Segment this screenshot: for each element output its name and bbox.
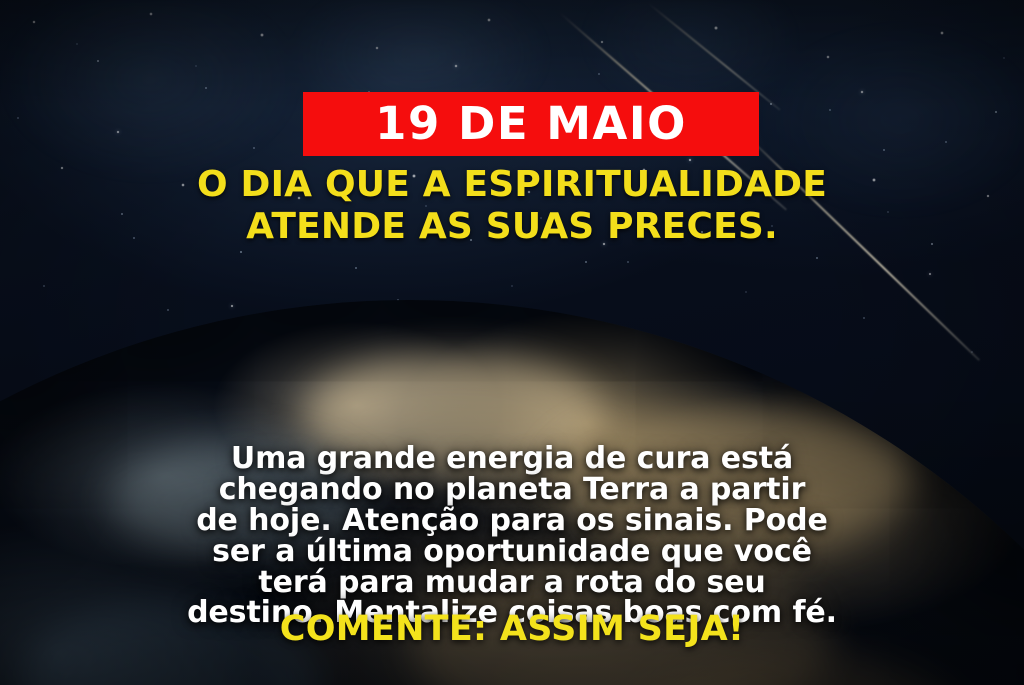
poster-content: 19 DE MAIO O DIA QUE A ESPIRITUALIDADE A… — [0, 0, 1024, 685]
headline-line-1: O DIA QUE A ESPIRITUALIDADE — [40, 164, 984, 206]
body-line-4: ser a última oportunidade que você — [34, 537, 990, 568]
body-line-1: Uma grande energia de cura está — [34, 444, 990, 475]
headline: O DIA QUE A ESPIRITUALIDADE ATENDE AS SU… — [0, 164, 1024, 248]
body-line-2: chegando no planeta Terra a partir — [34, 475, 990, 506]
poster-image: 19 DE MAIO O DIA QUE A ESPIRITUALIDADE A… — [0, 0, 1024, 685]
headline-line-2: ATENDE AS SUAS PRECES. — [40, 206, 984, 248]
body-paragraph: Uma grande energia de cura está chegando… — [0, 444, 1024, 629]
date-banner-label: 19 DE MAIO — [375, 101, 687, 146]
cta-label: COMENTE: ASSIM SEJA! — [280, 609, 745, 649]
date-banner: 19 DE MAIO — [303, 92, 759, 156]
body-line-3: de hoje. Atenção para os sinais. Pode — [34, 506, 990, 537]
call-to-action: COMENTE: ASSIM SEJA! — [0, 612, 1024, 647]
body-line-5: terá para mudar a rota do seu — [34, 568, 990, 599]
